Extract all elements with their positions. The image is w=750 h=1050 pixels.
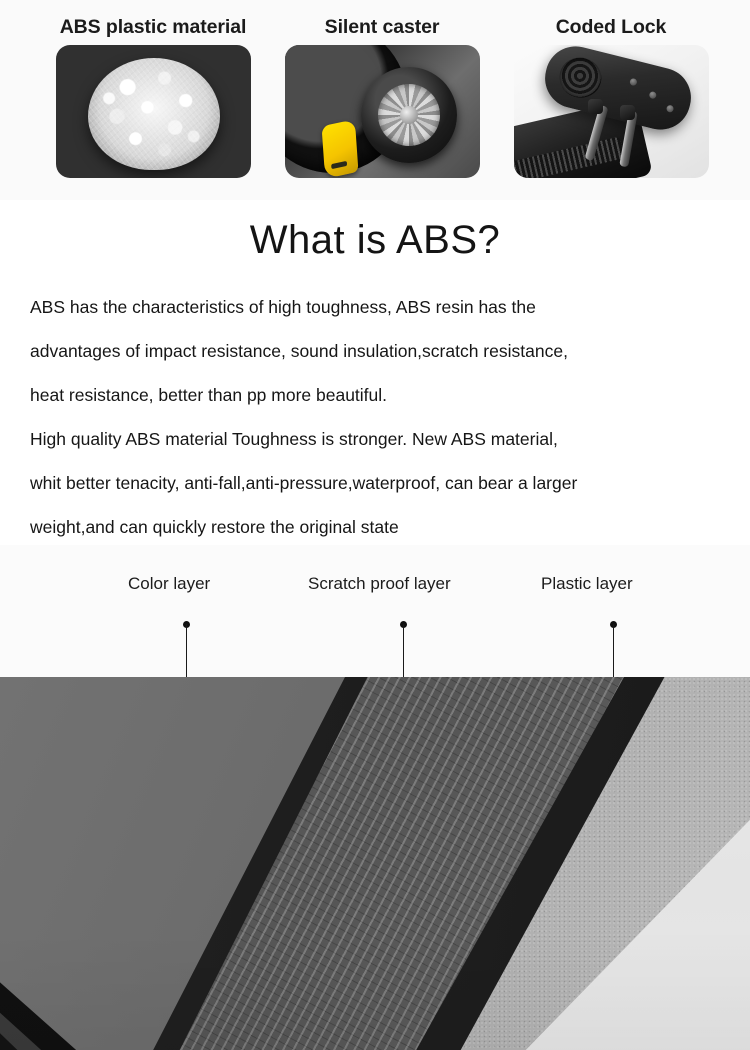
features-section: ABS plastic material Silent caster Coded… [0,0,750,200]
about-line: weight,and can quickly restore the origi… [30,505,730,549]
layer-label-scratch-proof: Scratch proof layer [308,574,451,594]
lock-dial-shape [555,53,605,102]
feature-title: Silent caster [269,16,495,39]
about-abs-section: What is ABS? ABS has the characteristics… [0,200,750,545]
feature-card-abs-material: ABS plastic material [40,0,266,200]
yellow-brake-lever-shape [322,119,359,178]
layer-diagram-section: Color layer Scratch proof layer Plastic … [0,545,750,1050]
caster-wheel-photo [285,45,480,178]
lock-rivet [666,104,674,112]
layer-label-plastic: Plastic layer [541,574,633,594]
about-line: whit better tenacity, anti-fall,anti-pre… [30,461,730,505]
abs-pellets-photo [56,45,251,178]
pellet-pile-shape [88,58,220,170]
product-infographic-page: ABS plastic material Silent caster Coded… [0,0,750,1050]
layered-board-photo [0,677,750,1050]
wheel-hub-shape [378,84,440,146]
pellet-grain-texture [88,58,220,170]
wheel-tyre-shape [361,67,457,163]
about-line: advantages of impact resistance, sound i… [30,329,730,373]
coded-lock-photo [514,45,709,178]
lock-rivet [629,78,637,86]
layer-label-color: Color layer [128,574,210,594]
about-title: What is ABS? [0,218,750,263]
feature-card-coded-lock: Coded Lock [498,0,724,200]
zipper-tab-shape [620,105,635,120]
about-body: ABS has the characteristics of high toug… [30,285,730,549]
about-line: High quality ABS material Toughness is s… [30,417,730,461]
zipper-tab-shape [588,99,603,114]
lock-rivet [649,91,657,99]
feature-card-silent-caster: Silent caster [269,0,495,200]
about-line: heat resistance, better than pp more bea… [30,373,730,417]
feature-title: Coded Lock [498,16,724,39]
feature-title: ABS plastic material [40,16,266,39]
about-line: ABS has the characteristics of high toug… [30,285,730,329]
